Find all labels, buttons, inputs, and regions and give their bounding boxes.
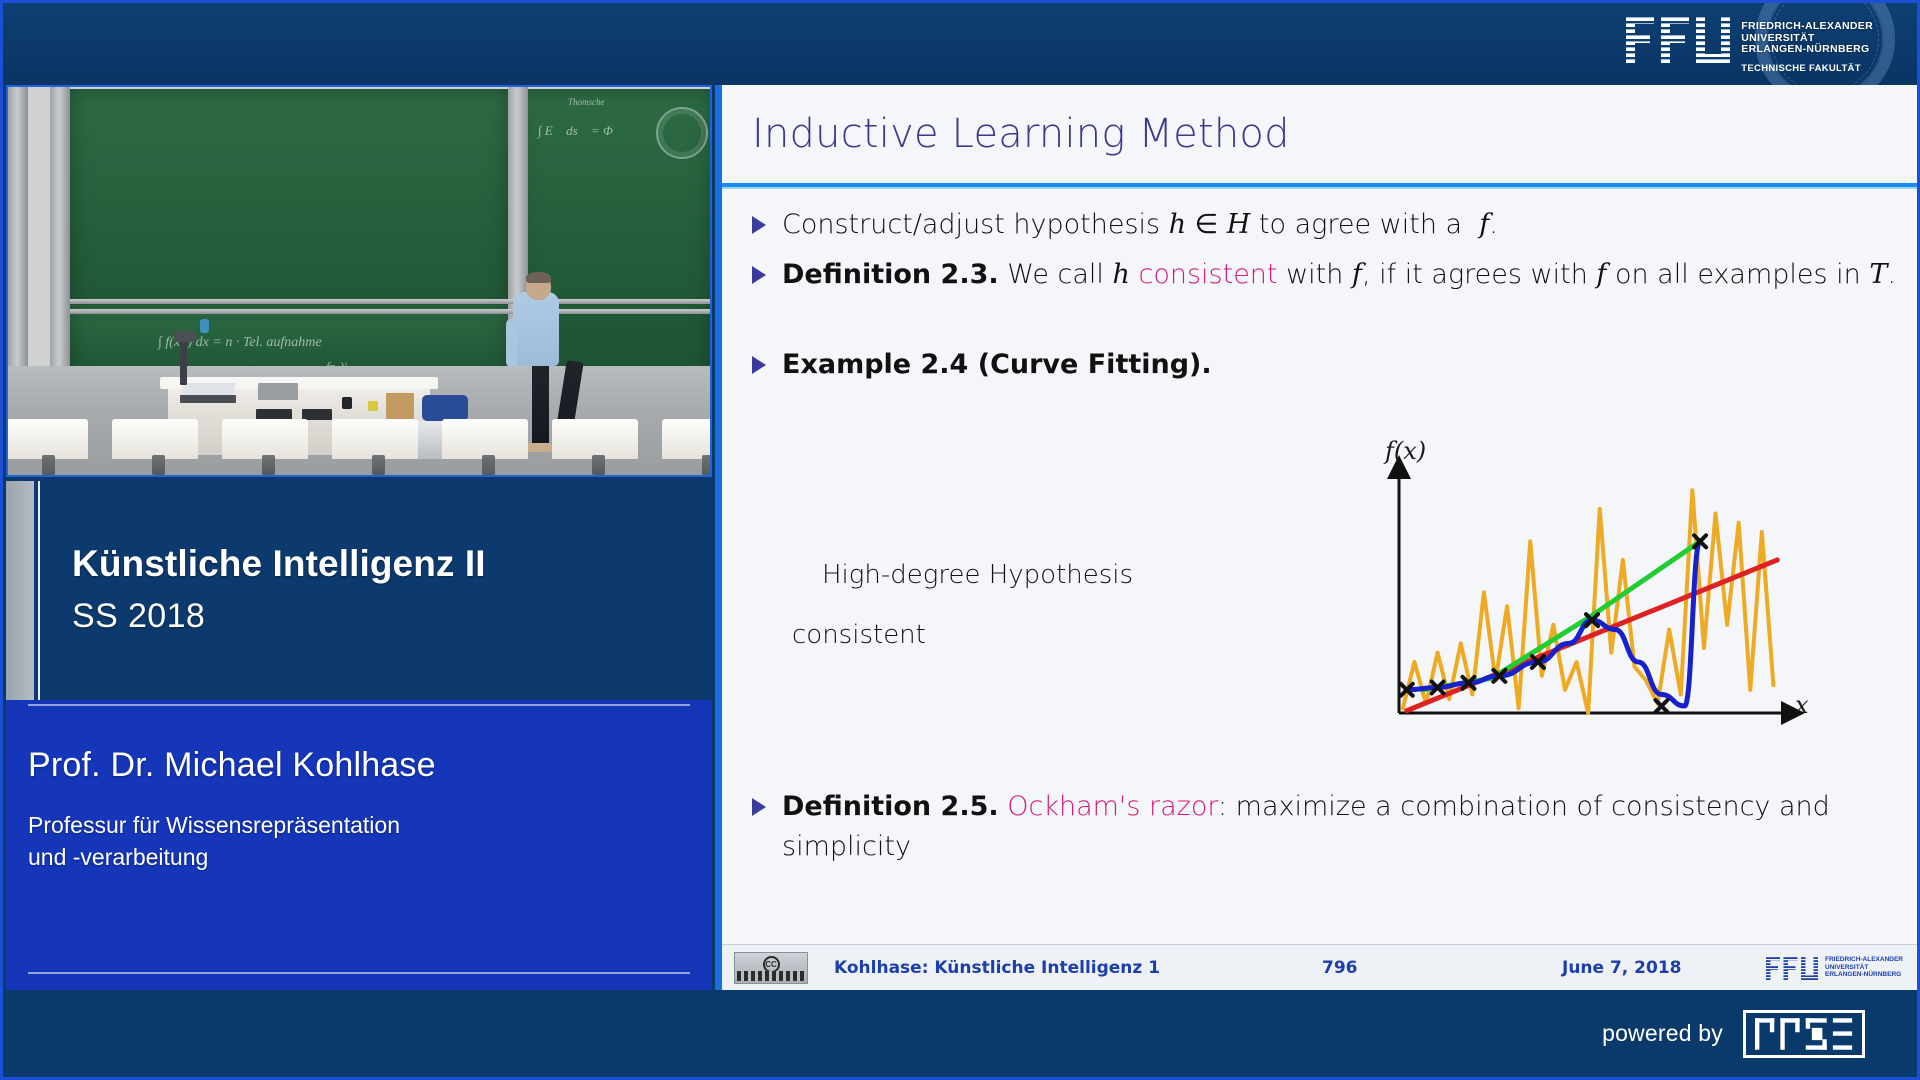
annotation-consistent: consistent <box>792 620 926 650</box>
lecturer-arm <box>506 319 517 367</box>
bottom-bar: powered by <box>3 990 1917 1077</box>
course-term: SS 2018 <box>72 597 712 636</box>
slide-content: Construct/adjust hypothesis h ∈ H to agr… <box>722 195 1917 990</box>
pillar-left <box>50 87 70 391</box>
left-column: Thomsche ∫ E⃗ ds⃗ = Φ ∫ f(x,t) dx = n · … <box>3 85 715 990</box>
bullet-example-2-4: Example 2.4 (Curve Fitting). <box>752 345 1852 385</box>
seat <box>442 419 528 459</box>
fau-org-text: FRIEDRICH-ALEXANDER UNIVERSITÄT ERLANGEN… <box>1741 15 1873 74</box>
footer-fau-line-3: ERLANGEN-NÜRNBERG <box>1825 971 1903 979</box>
seat-row <box>8 419 712 475</box>
fau-org-line-1: FRIEDRICH-ALEXANDER <box>1741 21 1873 33</box>
lecturer-divider-bottom <box>28 972 690 974</box>
powered-by-label: powered by <box>1602 1020 1723 1047</box>
footer-page-number: 796 <box>1322 958 1358 978</box>
course-accent-bar <box>6 481 34 700</box>
bottle-object <box>200 319 209 333</box>
bullet-text: Construct/adjust hypothesis h ∈ H to agr… <box>782 205 1498 245</box>
course-title: Künstliche Intelligenz II <box>72 543 712 585</box>
slide-title-rule <box>722 183 1917 187</box>
paper-bag-object <box>386 393 414 421</box>
yellow-item-object <box>368 401 378 411</box>
lecturer-panel: Prof. Dr. Michael Kohlhase Professur für… <box>6 700 712 990</box>
lecturer-role-line-1: Professur für Wissensrepräsentation <box>28 812 400 838</box>
fau-logo: FRIEDRICH-ALEXANDER UNIVERSITÄT ERLANGEN… <box>1626 15 1873 74</box>
lecturer-role: Professur für Wissensrepräsentation und … <box>28 809 684 873</box>
lecture-video[interactable]: Thomsche ∫ E⃗ ds⃗ = Φ ∫ f(x,t) dx = n · … <box>6 85 712 477</box>
laptop-base <box>180 395 236 403</box>
fau-faculty-line: TECHNISCHE FAKULTÄT <box>1741 63 1873 74</box>
seat-leg <box>152 455 165 475</box>
seat-leg <box>372 455 385 475</box>
board-rail <box>70 299 712 304</box>
projector-arm <box>180 340 187 385</box>
bullet-text: Definition 2.3. We call h consistent wit… <box>782 255 1896 295</box>
seat-leg <box>482 455 495 475</box>
plot-series-overfit-zigzag <box>1403 490 1774 713</box>
bullet-triangle-icon <box>752 356 766 374</box>
plot-series-group <box>1403 490 1777 713</box>
curve-fitting-plot: f(x) x <box>1377 445 1817 745</box>
slide-title: Inductive Learning Method <box>752 111 1290 157</box>
seat <box>552 419 638 459</box>
footer-date: June 7, 2018 <box>1562 958 1682 978</box>
footer-course: Kohlhase: Künstliche Intelligenz 1 <box>834 958 1160 978</box>
bullet-triangle-icon <box>752 798 766 816</box>
x-axis-label: x <box>1795 691 1809 719</box>
seat <box>6 419 88 459</box>
seat <box>332 419 418 459</box>
bullet-definition-2-3: Definition 2.3. We call h consistent wit… <box>752 255 1902 295</box>
bullet-definition-2-5: Definition 2.5. Ockham's razor: maximize… <box>752 787 1892 867</box>
projector-head <box>174 331 196 342</box>
bullet-text: Example 2.4 (Curve Fitting). <box>782 345 1212 385</box>
footer-fau-line-1: FRIEDRICH-ALEXANDER <box>1825 956 1903 964</box>
cc-strip <box>737 971 805 981</box>
rrze-logo-mark <box>1746 1013 1862 1055</box>
chalk-seal-drawing <box>656 107 708 159</box>
seat-leg <box>262 455 275 475</box>
pillar-edge <box>8 87 28 391</box>
footer-fau-logo: FRIEDRICH-ALEXANDER UNIVERSITÄT ERLANGEN… <box>1766 956 1903 980</box>
rrze-logo[interactable] <box>1743 1010 1865 1058</box>
course-panel: Künstliche Intelligenz II SS 2018 <box>6 481 712 700</box>
seat-leg <box>592 455 605 475</box>
grey-box-object <box>258 383 298 400</box>
seat <box>222 419 308 459</box>
creative-commons-badge-icon: CC <box>734 952 808 984</box>
seat <box>112 419 198 459</box>
lecturer-name: Prof. Dr. Michael Kohlhase <box>28 746 684 785</box>
slide-view[interactable]: Inductive Learning Method Construct/adju… <box>715 85 1917 990</box>
fau-logo-mark <box>1626 15 1730 63</box>
y-axis-label: f(x) <box>1385 437 1426 465</box>
lecturer-hair <box>526 272 551 283</box>
slide-footer: CC Kohlhase: Künstliche Intelligenz 1 79… <box>722 944 1917 990</box>
app-header: FRIEDRICH-ALEXANDER UNIVERSITÄT ERLANGEN… <box>3 3 1917 85</box>
board-rail-2 <box>70 309 712 314</box>
seat-leg <box>42 455 55 475</box>
seat <box>662 419 712 459</box>
footer-fau-mark <box>1766 956 1818 980</box>
bullet-triangle-icon <box>752 266 766 284</box>
lecturer-role-line-2: und -verarbeitung <box>28 844 208 870</box>
bullet-construct: Construct/adjust hypothesis h ∈ H to agr… <box>752 205 1872 245</box>
annotation-high-degree: High-degree Hypothesis <box>822 560 1133 590</box>
lecturer-divider-top <box>28 704 690 706</box>
backpack-object <box>422 395 468 421</box>
fau-org-line-3: ERLANGEN-NÜRNBERG <box>1741 44 1873 56</box>
seat-leg <box>702 455 712 475</box>
plot-data-point <box>1655 700 1667 712</box>
plot-canvas <box>1377 445 1817 745</box>
lecturer-torso <box>513 292 559 366</box>
bullet-text: Definition 2.5. Ockham's razor: maximize… <box>782 787 1892 867</box>
lecture-recording-player: FRIEDRICH-ALEXANDER UNIVERSITÄT ERLANGEN… <box>0 0 1920 1080</box>
bullet-triangle-icon <box>752 216 766 234</box>
adapter-object <box>342 397 352 409</box>
